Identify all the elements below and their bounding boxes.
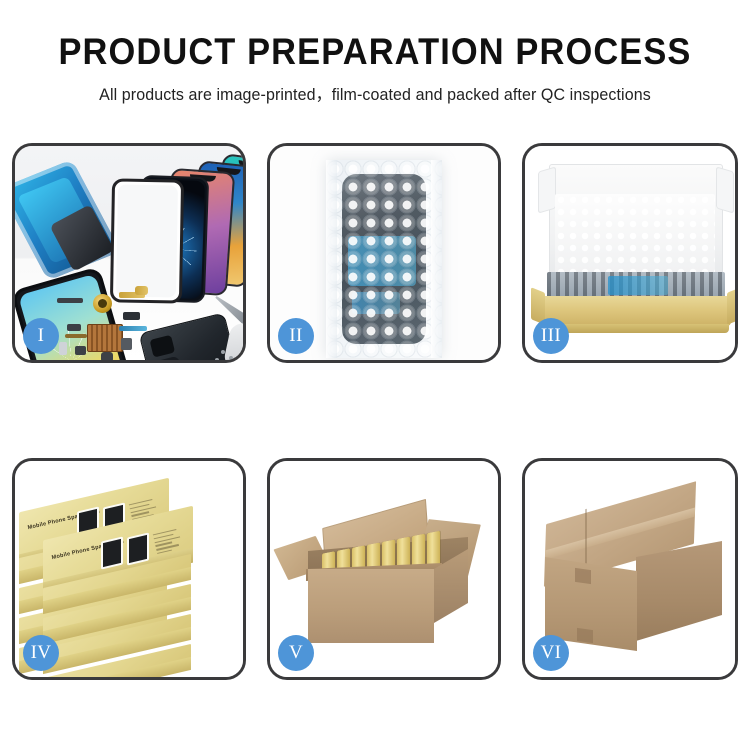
bubble-texture [326,160,442,358]
carton-top-seam [585,509,587,570]
process-step-grid: I II [0,0,750,750]
step-badge-3: III [533,318,569,354]
part-graphic [75,346,86,355]
screw-graphic [221,350,225,354]
bubble-bag-graphic [326,160,442,358]
step-panel-3[interactable]: III [522,143,738,363]
step-badge-2: II [278,318,314,354]
step-panel-6[interactable]: VI [522,458,738,680]
bag-edge-right [431,160,442,358]
retail-box-r4 [43,661,191,677]
step-panel-1[interactable]: I [12,143,246,363]
chip-grid-graphic [87,324,123,352]
step-badge-6: VI [533,635,569,671]
flex-cable-graphic [135,286,148,295]
box-art-phone-b1 [101,536,123,569]
product-preparation-process-page: PRODUCT PREPARATION PROCESS All products… [0,0,750,750]
phone-graphic-1 [110,178,184,303]
carton-tab-lower [577,628,593,643]
sealed-carton-graphic [545,503,723,653]
bag-edge-left [326,160,337,358]
speaker-coil-graphic [93,294,112,313]
box-art-phone-b2 [127,532,149,565]
part-graphic [59,342,67,355]
screw-graphic [215,358,219,360]
part-graphic [57,298,83,303]
step-badge-1: I [23,318,59,354]
part-graphic [67,324,81,331]
open-carton-graphic [294,519,466,643]
step-panel-4[interactable]: Mobile Phone Spare Parts [12,458,246,680]
step-panel-2[interactable]: II [267,143,501,363]
mailer-body-graphic [541,296,731,326]
mailer-front-flap [543,324,729,333]
carton-tab-upper [575,568,591,584]
carton-right-face [636,541,722,641]
carton-side-front [308,569,434,643]
part-graphic [123,312,140,320]
flex-cable-graphic [119,326,147,331]
step-badge-4: IV [23,635,59,671]
flex-cable-graphic [65,334,87,338]
step-badge-5: V [278,635,314,671]
part-graphic [101,352,113,360]
screw-graphic [229,356,233,360]
part-graphic [121,338,132,350]
step-panel-5[interactable]: V [267,458,501,680]
